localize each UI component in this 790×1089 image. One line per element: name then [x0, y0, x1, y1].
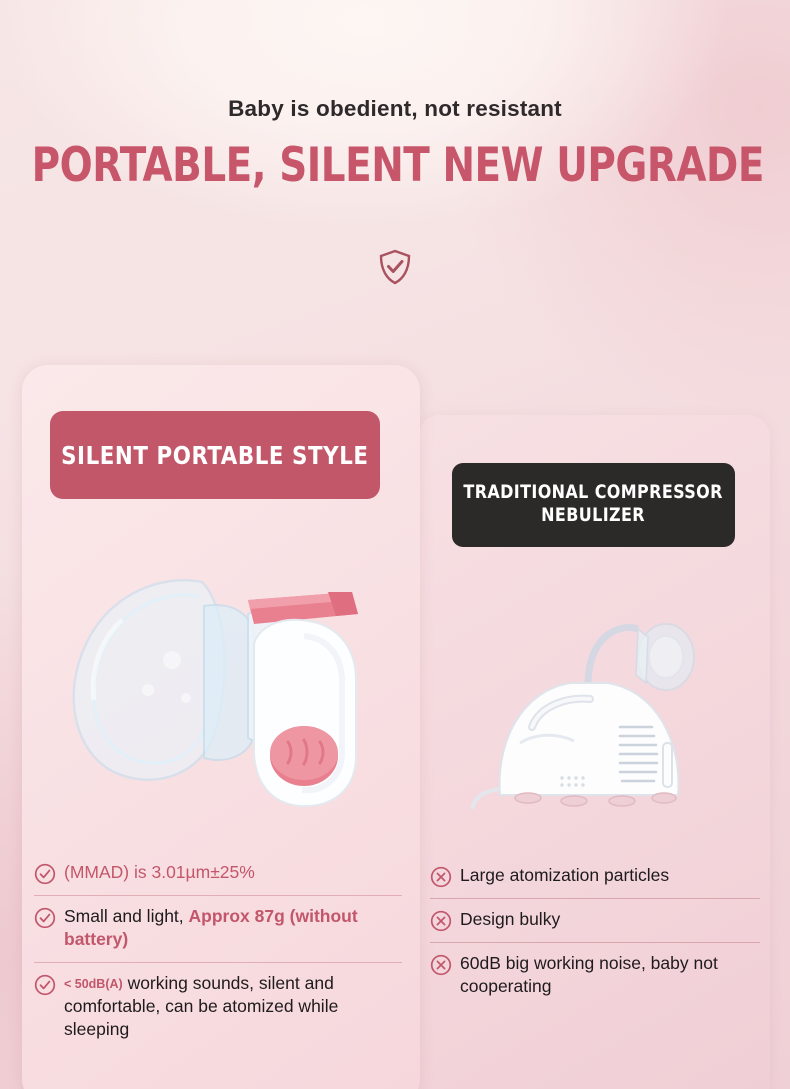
feature-list-portable: (MMAD) is 3.01µm±25% Small and light, Ap… — [34, 852, 402, 1051]
cross-circle-icon — [430, 954, 452, 976]
check-circle-icon — [34, 863, 56, 885]
badge-traditional-line1: TRADITIONAL COMPRESSOR — [464, 482, 723, 505]
list-item-label: Large atomization particles — [460, 864, 669, 887]
check-circle-icon — [34, 907, 56, 929]
promo-banner: Baby is obedient, not resistant PORTABLE… — [0, 0, 790, 1089]
list-item-label-db: < 50dB(A) — [64, 977, 123, 991]
list-item: Design bulky — [430, 899, 760, 943]
list-item-label: 60dB big working noise, baby not coopera… — [460, 952, 760, 999]
list-item: Small and light, Approx 87g (without bat… — [34, 896, 402, 963]
list-item: 60dB big working noise, baby not coopera… — [430, 943, 760, 1009]
list-item-label: Small and light, Approx 87g (without bat… — [64, 905, 402, 952]
subheadline: Baby is obedient, not resistant — [0, 96, 790, 122]
list-item-label-part: Small and light, — [64, 906, 189, 926]
badge-traditional-line2: NEBULIZER — [542, 505, 646, 528]
list-item-label: (MMAD) is 3.01µm±25% — [64, 861, 255, 884]
shield-check-icon — [376, 248, 414, 286]
portable-mesh-nebulizer-image — [52, 540, 372, 830]
list-item-label: Design bulky — [460, 908, 560, 931]
list-item: (MMAD) is 3.01µm±25% — [34, 852, 402, 896]
feature-list-traditional: Large atomization particles Design bulky… — [430, 855, 760, 1009]
badge-portable: SILENT PORTABLE STYLE — [50, 411, 380, 499]
list-item: < 50dB(A) working sounds, silent and com… — [34, 963, 402, 1052]
badge-traditional: TRADITIONAL COMPRESSOR NEBULIZER — [452, 463, 735, 547]
list-item-label: < 50dB(A) working sounds, silent and com… — [64, 972, 402, 1042]
check-circle-icon — [34, 974, 56, 996]
badge-portable-label: SILENT PORTABLE STYLE — [61, 441, 368, 470]
traditional-compressor-nebulizer-image — [470, 565, 730, 845]
page-title: PORTABLE, SILENT NEW UPGRADE — [32, 138, 759, 193]
list-item-label-highlight: Approx 87g — [189, 906, 285, 926]
cross-circle-icon — [430, 910, 452, 932]
list-item: Large atomization particles — [430, 855, 760, 899]
cross-circle-icon — [430, 866, 452, 888]
header-block: Baby is obedient, not resistant PORTABLE… — [0, 96, 790, 193]
